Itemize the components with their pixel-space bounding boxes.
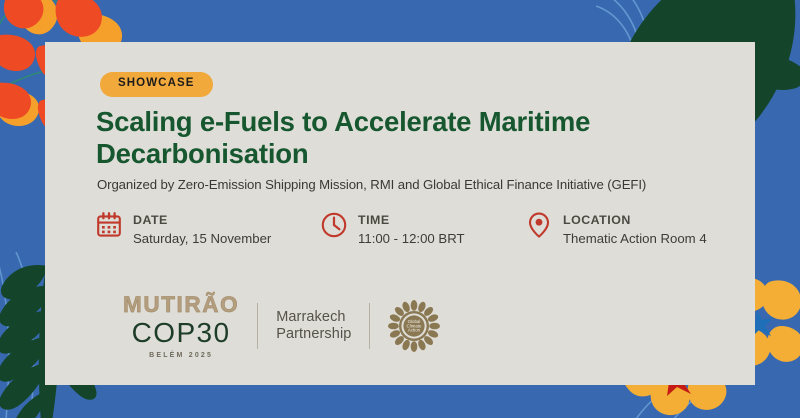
detail-label-location: LOCATION	[563, 213, 631, 227]
cop30-mutirao-text: MUTIRÃO	[123, 294, 239, 317]
showcase-badge: SHOWCASE	[100, 72, 213, 97]
organizer-line: Organized by Zero-Emission Shipping Miss…	[97, 177, 646, 192]
emblem-line-3: Action	[408, 328, 421, 333]
cop30-logo: MUTIRÃO COP30 BELÉM 2025	[123, 294, 239, 359]
detail-date: DATE Saturday, 15 November	[95, 210, 320, 248]
logo-strip: MUTIRÃO COP30 BELÉM 2025 Marrakech Partn…	[123, 294, 440, 359]
cop30-text: COP30	[123, 319, 239, 347]
detail-location: LOCATION Thematic Action Room 4	[525, 210, 707, 248]
event-card: SHOWCASE Scaling e-Fuels to Accelerate M…	[45, 42, 755, 385]
logo-divider-right	[369, 303, 370, 349]
event-announcement-graphic: SHOWCASE Scaling e-Fuels to Accelerate M…	[0, 0, 800, 418]
page-title: Scaling e-Fuels to Accelerate Maritime D…	[96, 106, 716, 171]
detail-value-date: Saturday, 15 November	[133, 231, 271, 246]
marrakech-line-1: Marrakech	[276, 309, 351, 327]
event-details-row: DATE Saturday, 15 November TIME 11:00 - …	[95, 210, 735, 248]
marrakech-partnership-logo: Marrakech Partnership	[276, 309, 351, 344]
logo-divider-left	[257, 303, 258, 349]
detail-time: TIME 11:00 - 12:00 BRT	[320, 210, 525, 248]
detail-label-time: TIME	[358, 213, 390, 227]
cop30-belem-text: BELÉM 2025	[123, 352, 239, 359]
detail-label-date: DATE	[133, 213, 168, 227]
marrakech-line-2: Partnership	[276, 326, 351, 344]
clock-icon	[320, 211, 348, 239]
global-climate-action-emblem: Global Climate Action	[388, 300, 440, 352]
calendar-icon	[95, 211, 123, 239]
location-pin-icon	[525, 211, 553, 239]
detail-value-location: Thematic Action Room 4	[563, 231, 707, 246]
detail-value-time: 11:00 - 12:00 BRT	[358, 231, 465, 246]
